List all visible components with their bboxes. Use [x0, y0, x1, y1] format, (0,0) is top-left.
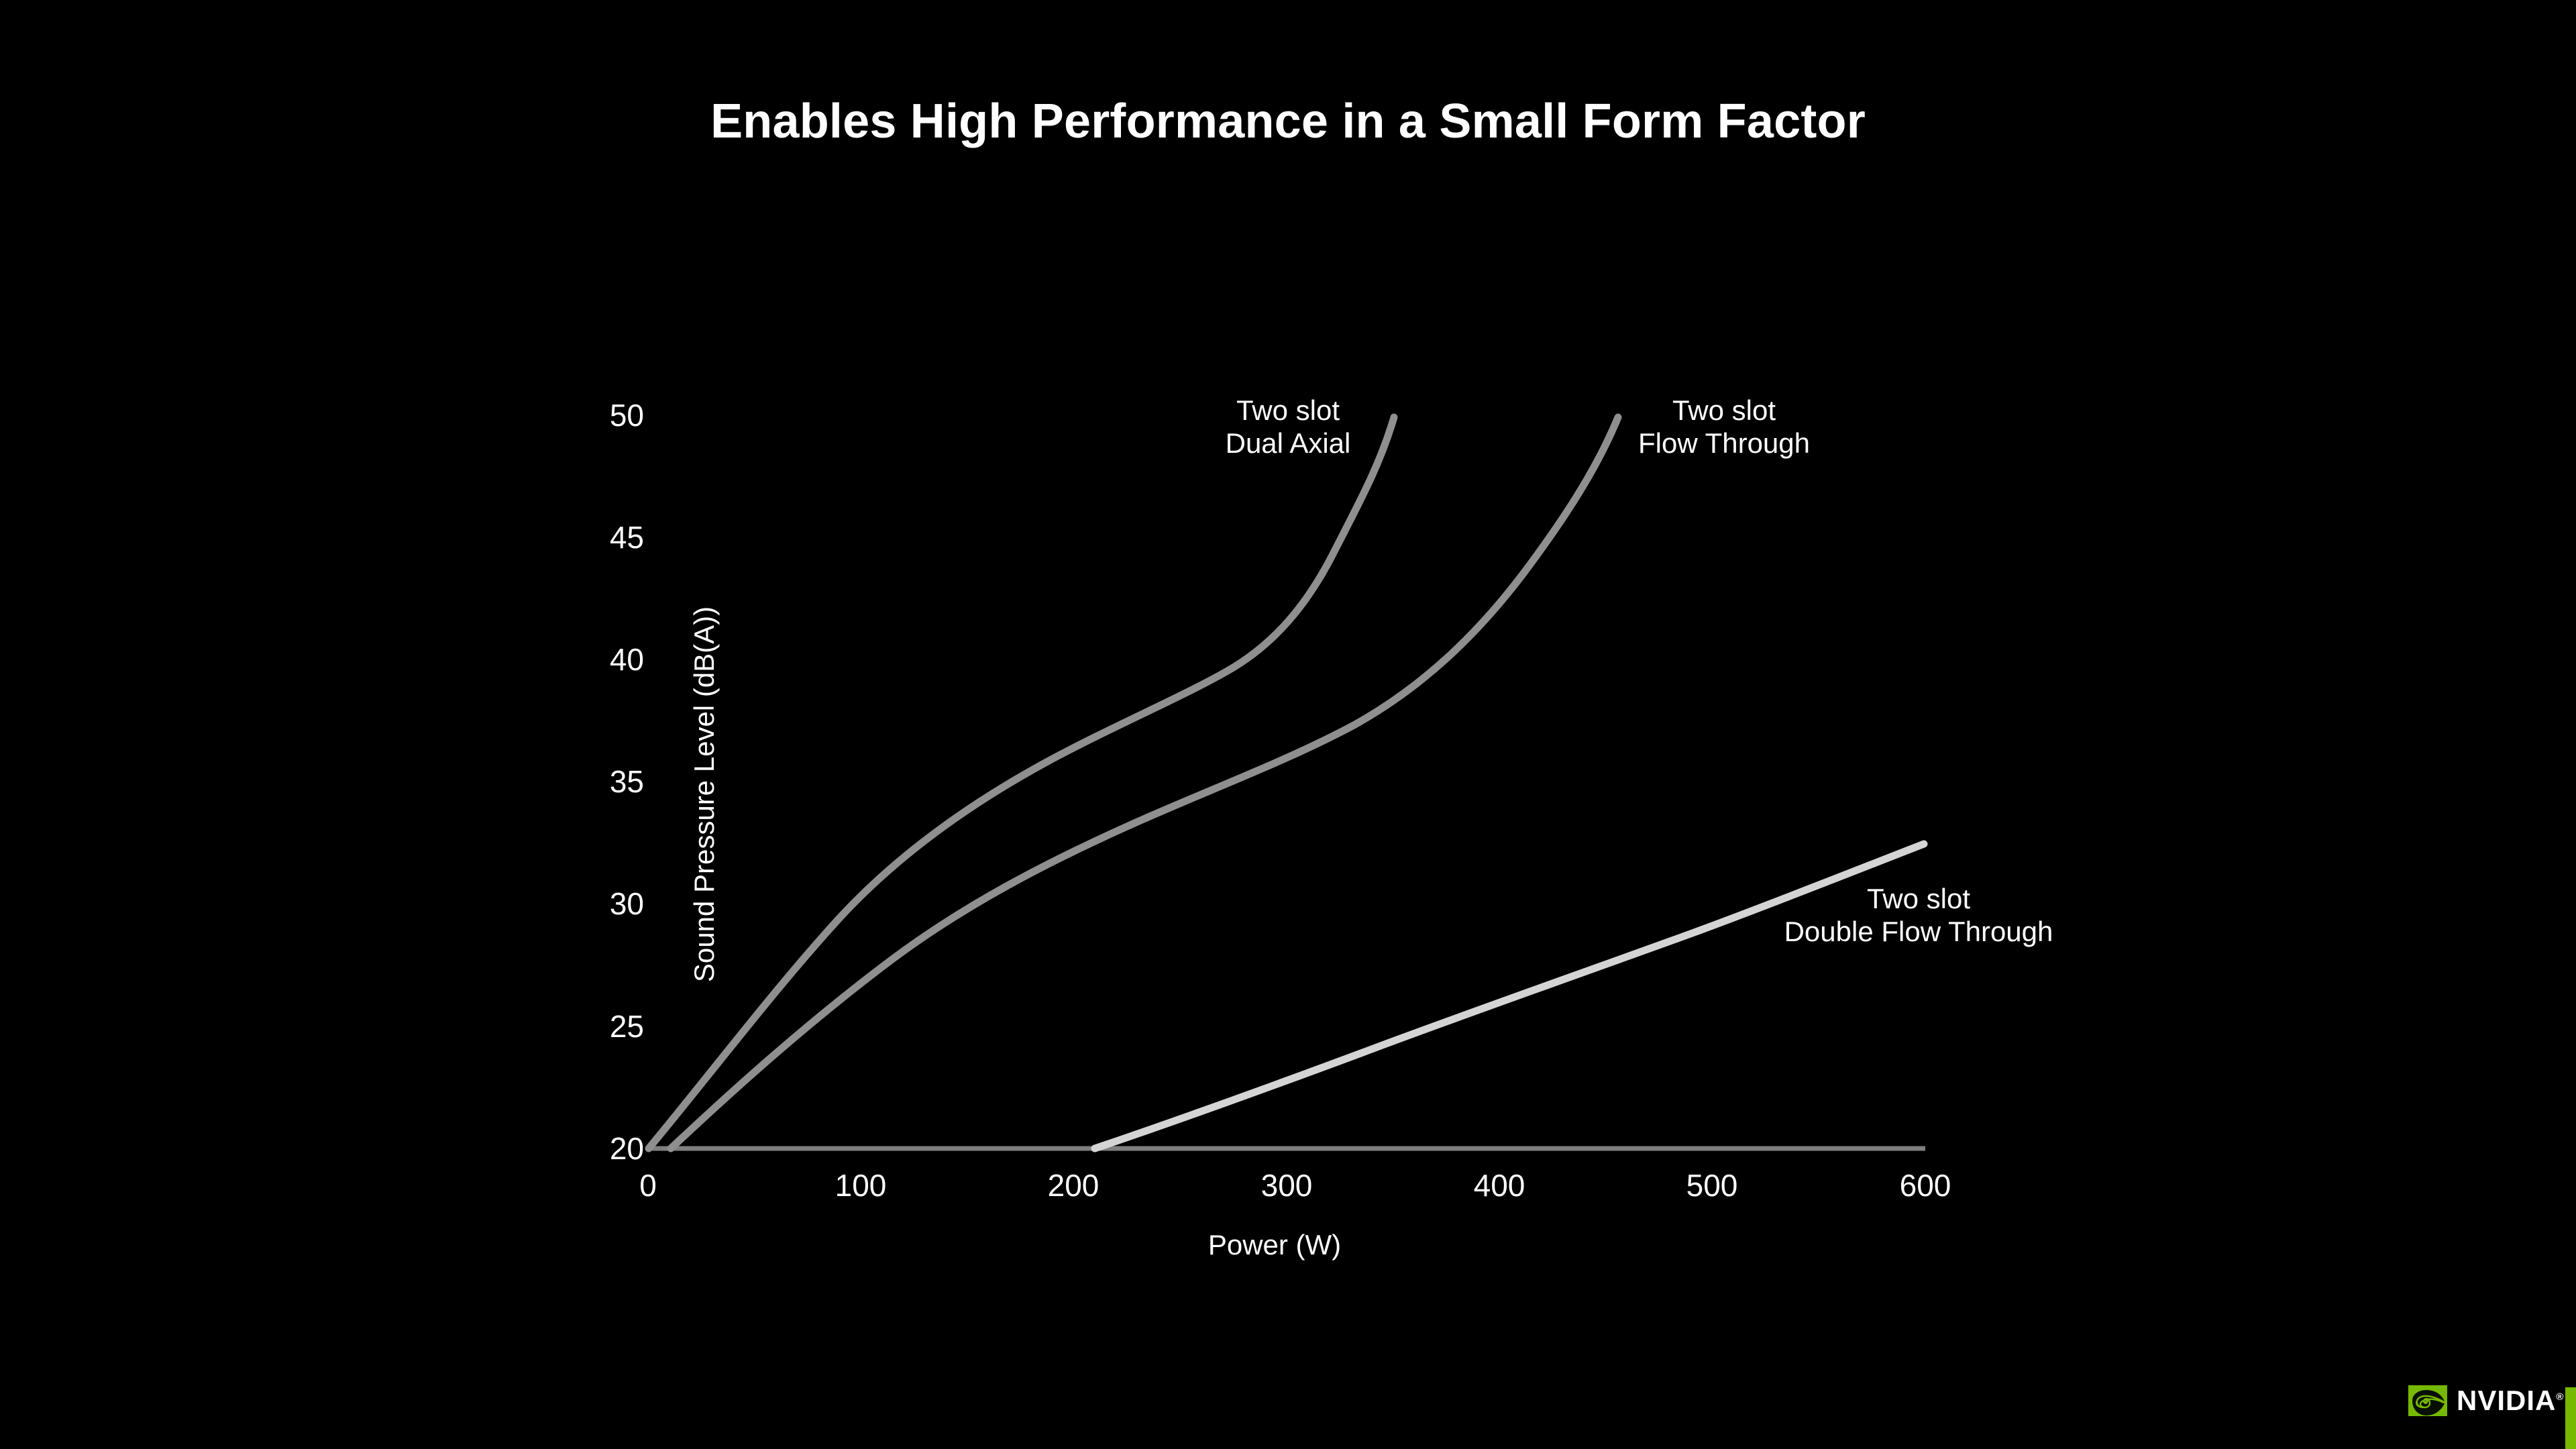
- x-tick-label-400: 400: [1432, 1167, 1566, 1203]
- nvidia-logo: NVIDIA®: [2408, 1382, 2564, 1419]
- nvidia-wordmark: NVIDIA®: [2457, 1387, 2564, 1415]
- y-tick-label-45: 45: [550, 519, 644, 555]
- series-annotation-double-flow-through-line1: Two slot: [1751, 883, 2086, 916]
- y-axis-title: Sound Pressure Level (dB(A)): [688, 559, 720, 1029]
- x-tick-label-500: 500: [1645, 1167, 1779, 1203]
- x-tick-label-300: 300: [1220, 1167, 1354, 1203]
- series-annotation-flow-through-line2: Flow Through: [1576, 427, 1872, 460]
- x-tick-label-100: 100: [794, 1167, 928, 1203]
- y-tick-label-35: 35: [550, 763, 644, 800]
- series-annotation-double-flow-through: Two slot Double Flow Through: [1751, 883, 2086, 948]
- x-tick-label-200: 200: [1006, 1167, 1140, 1203]
- green-accent-bar: [2565, 1387, 2576, 1449]
- series-annotation-flow-through: Two slot Flow Through: [1576, 394, 1872, 460]
- line-chart: Sound Pressure Level (dB(A)) 50 45 40 35…: [0, 0, 2576, 1449]
- nvidia-eye-icon: [2408, 1385, 2447, 1416]
- y-tick-label-30: 30: [550, 885, 644, 922]
- series-line-dual-axial: [649, 417, 1394, 1148]
- series-annotation-dual-axial-line1: Two slot: [1140, 394, 1436, 427]
- y-tick-label-25: 25: [550, 1008, 644, 1044]
- y-tick-label-20: 20: [550, 1130, 644, 1167]
- series-annotation-dual-axial-line2: Dual Axial: [1140, 427, 1436, 460]
- y-tick-label-40: 40: [550, 641, 644, 678]
- x-tick-label-0: 0: [581, 1167, 715, 1203]
- slide-root: Enables High Performance in a Small Form…: [0, 0, 2576, 1449]
- series-annotation-flow-through-line1: Two slot: [1576, 394, 1872, 427]
- series-annotation-dual-axial: Two slot Dual Axial: [1140, 394, 1436, 460]
- y-tick-label-50: 50: [550, 397, 644, 433]
- x-tick-label-600: 600: [1858, 1167, 1992, 1203]
- x-axis-title: Power (W): [1006, 1229, 1543, 1261]
- nvidia-wordmark-text: NVIDIA: [2457, 1385, 2556, 1416]
- series-annotation-double-flow-through-line2: Double Flow Through: [1751, 916, 2086, 949]
- nvidia-trademark: ®: [2556, 1391, 2564, 1403]
- series-line-flow-through: [671, 417, 1618, 1148]
